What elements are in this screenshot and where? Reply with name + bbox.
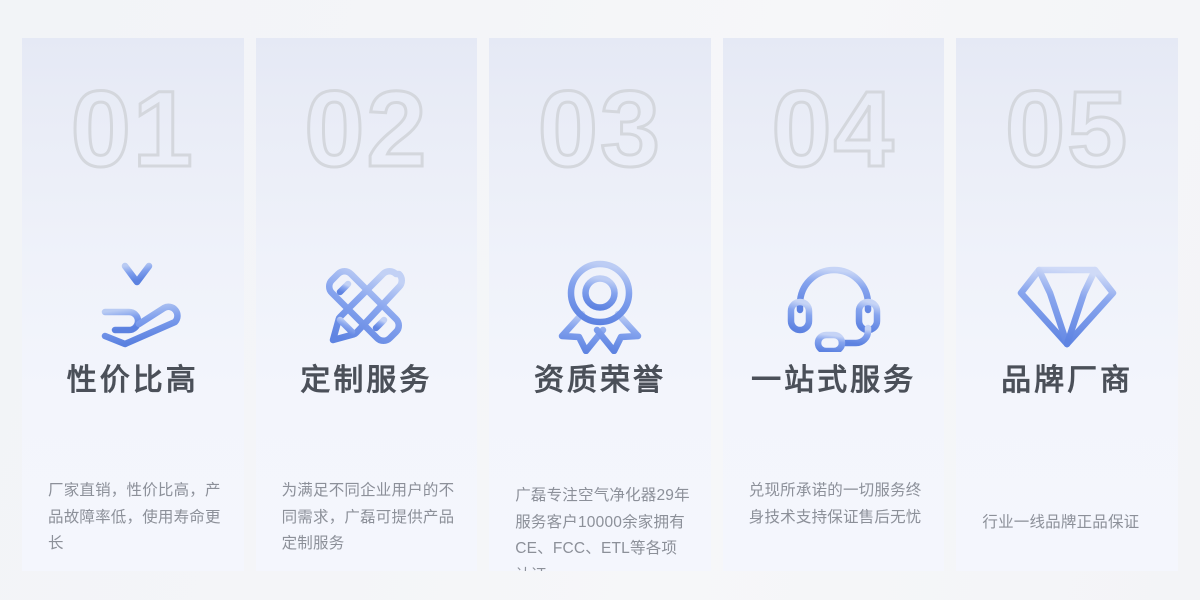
card-watermark-number: 05 — [956, 74, 1178, 184]
card-title: 品牌厂商 — [956, 362, 1178, 400]
card-watermark-number: 01 — [22, 74, 244, 184]
card-watermark-number: 04 — [723, 74, 945, 184]
card-description: 为满足不同企业用户的不同需求，广磊可提供产品定制服务 — [282, 478, 458, 558]
card-description: 兑现所承诺的一切服务终身技术支持保证售后无忧 — [749, 478, 925, 531]
watermark-number-text: 01 — [71, 75, 195, 183]
watermark-number-text: 02 — [304, 75, 428, 183]
card-title: 定制服务 — [256, 362, 478, 400]
award-medal-icon — [489, 256, 711, 356]
card-description: 行业一线品牌正品保证 — [982, 510, 1158, 537]
money-in-hand-icon — [22, 256, 244, 356]
feature-card-03[interactable]: 03 — [489, 38, 711, 571]
feature-cards-banner: 01 — [0, 0, 1200, 600]
card-description: 广磊专注空气净化器29年服务客户10000余家拥有CE、FCC、ETL等各项认证 — [515, 483, 691, 571]
feature-card-05[interactable]: 05 — [956, 38, 1178, 571]
feature-card-02[interactable]: 02 — [256, 38, 478, 571]
diamond-icon — [956, 256, 1178, 356]
card-watermark-number: 03 — [489, 74, 711, 184]
crossed-pens-icon — [256, 256, 478, 356]
watermark-number-text: 03 — [538, 75, 662, 183]
headset-support-icon — [723, 256, 945, 356]
card-title: 一站式服务 — [723, 362, 945, 400]
feature-card-04[interactable]: 04 — [723, 38, 945, 571]
card-title: 性价比高 — [22, 362, 244, 400]
card-watermark-number: 02 — [256, 74, 478, 184]
card-title: 资质荣誉 — [489, 362, 711, 400]
card-description: 厂家直销，性价比高，产品故障率低，使用寿命更长 — [48, 478, 224, 558]
feature-card-list: 01 — [22, 38, 1178, 571]
watermark-number-text: 04 — [772, 75, 896, 183]
feature-card-01[interactable]: 01 — [22, 38, 244, 571]
watermark-number-text: 05 — [1005, 75, 1129, 183]
